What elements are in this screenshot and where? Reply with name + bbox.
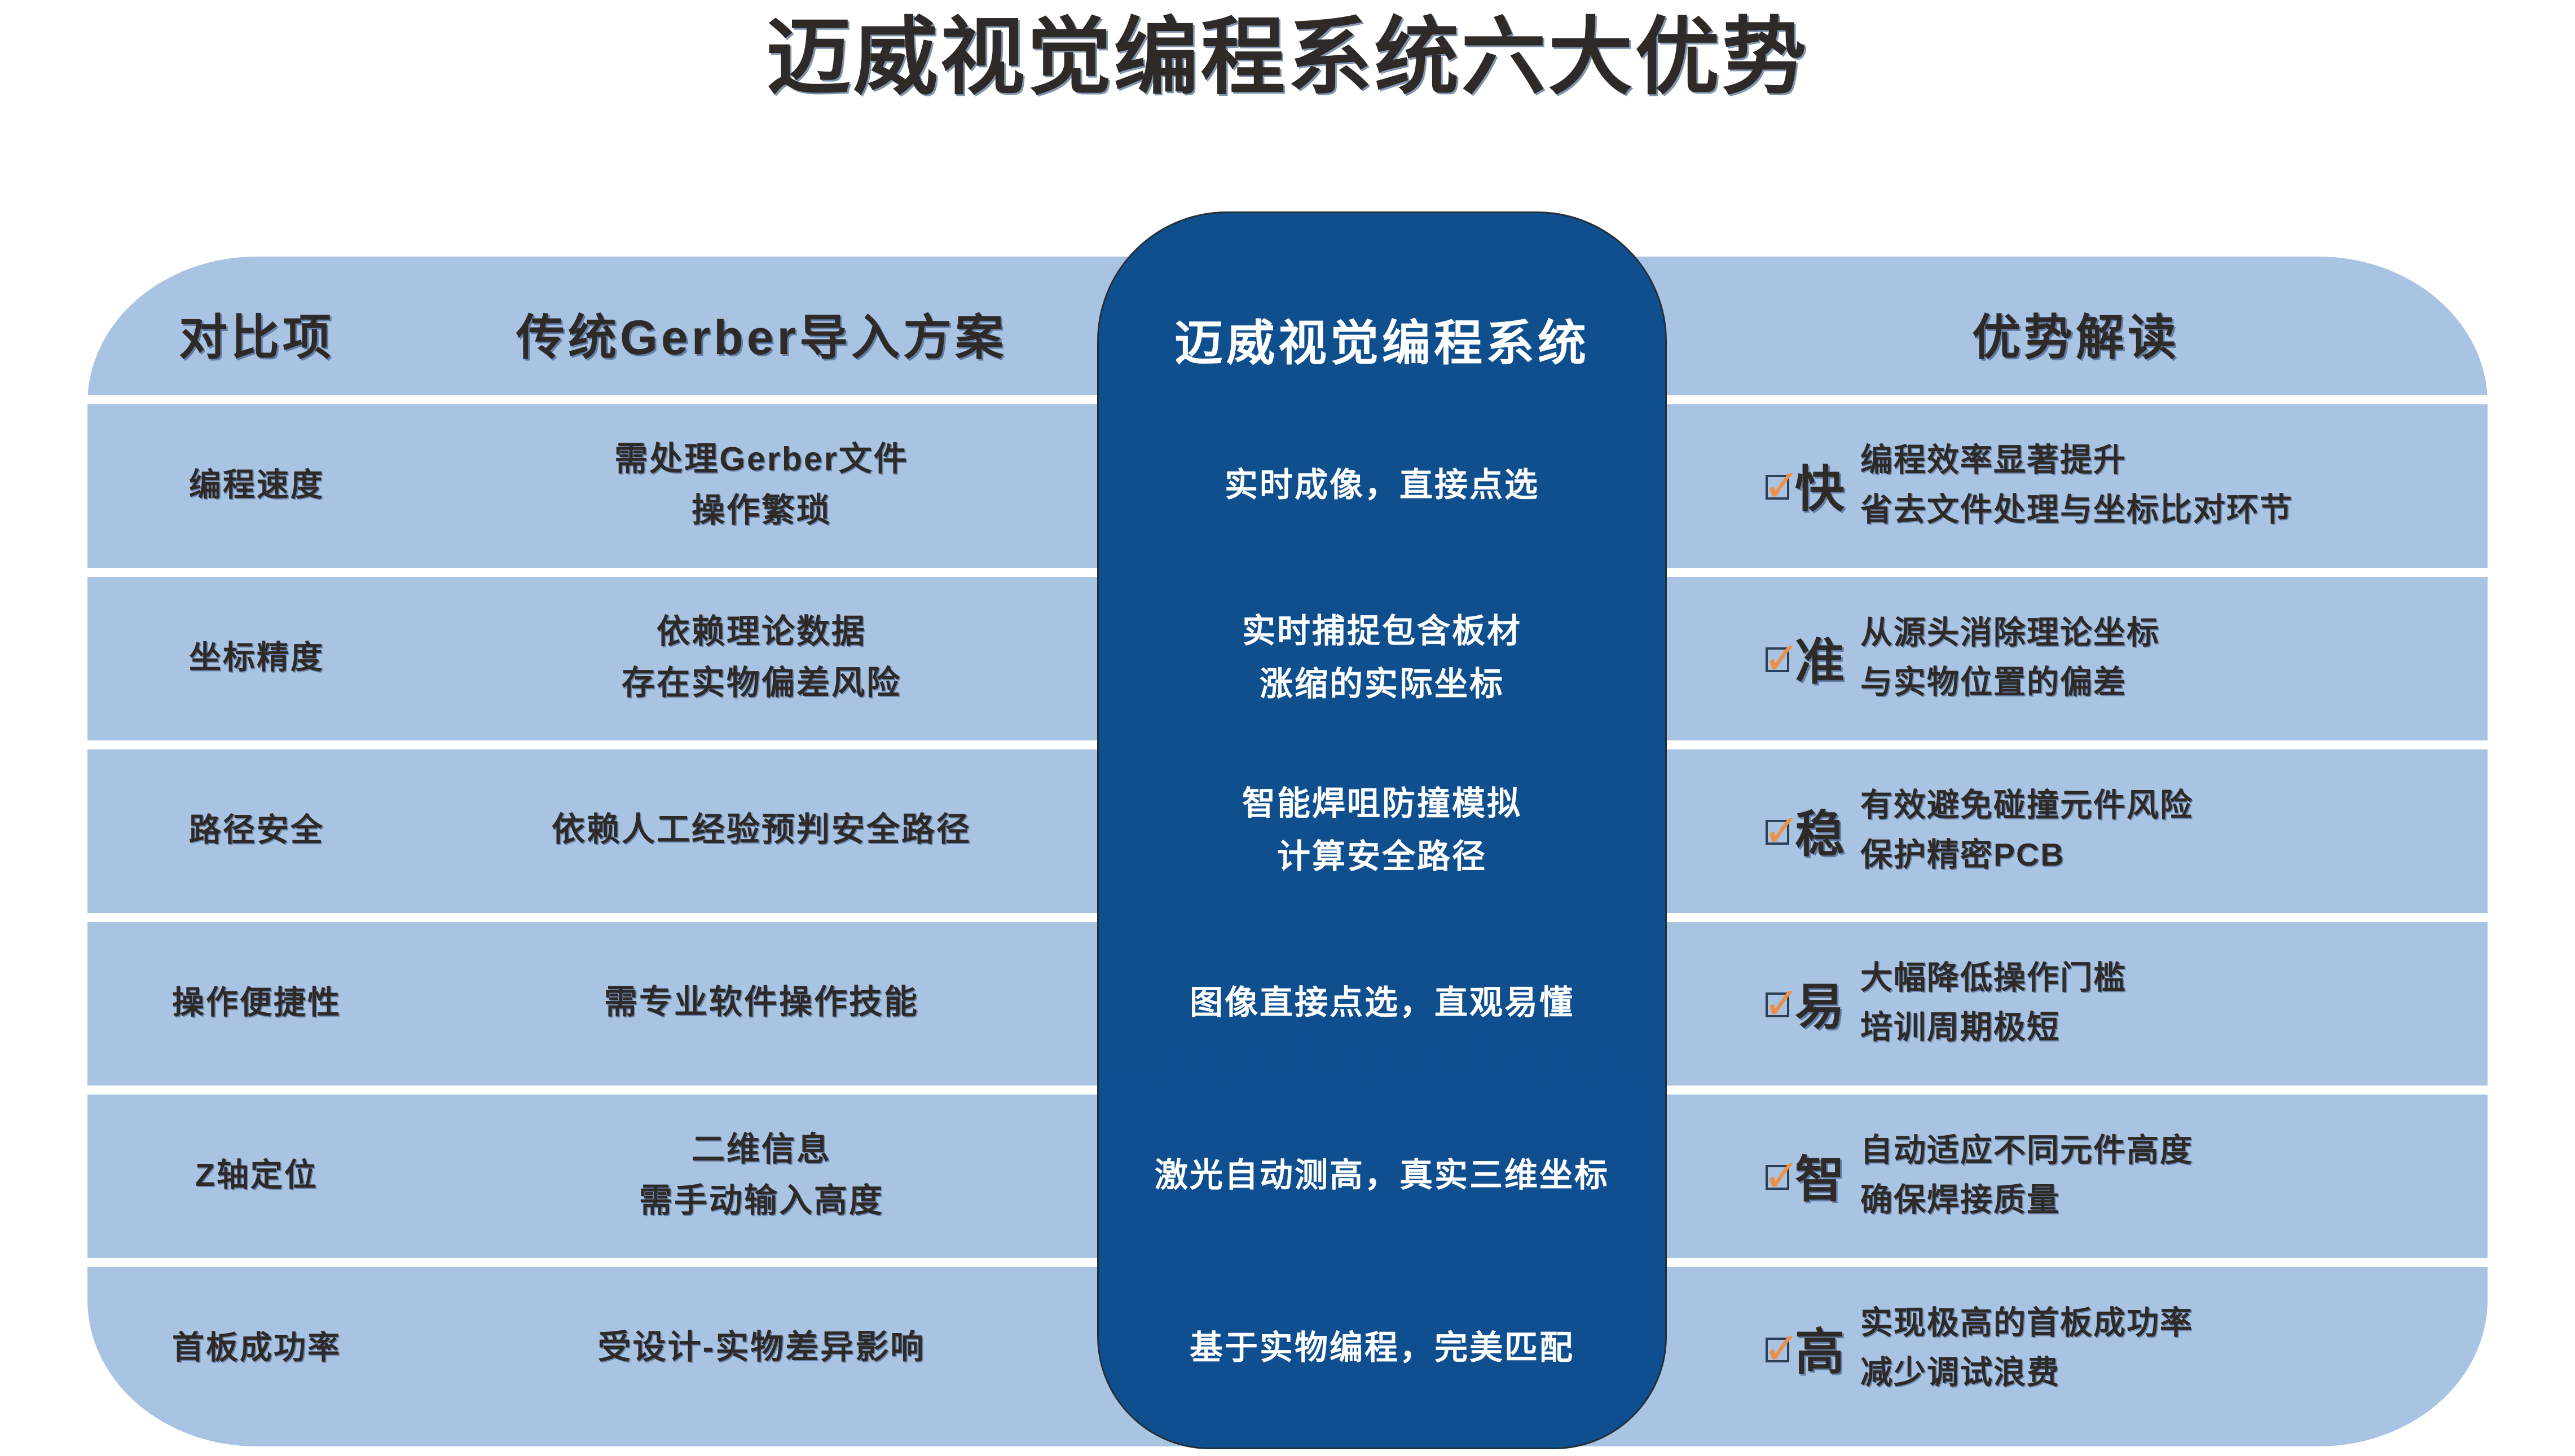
row-maiwei-line: 涨缩的实际坐标 [1106,658,1658,711]
row-traditional: 依赖理论数据 存在实物偏差风险 [429,579,1094,736]
benefit-badge: ✓ 准 [1766,622,1846,694]
row-maiwei: 实时成像，直接点选 [1106,406,1658,564]
benefit-description: 有效避免碰撞元件风险 保护精密PCB [1860,780,2193,880]
row-maiwei-line: 图像直接点选，直观易懂 [1106,976,1658,1029]
row-item: 坐标精度 [99,579,415,736]
row-maiwei: 图像直接点选，直观易懂 [1106,924,1658,1082]
row-traditional-line: 依赖人工经验预判安全路径 [429,804,1094,855]
row-traditional: 需处理Gerber文件 操作繁琐 [429,406,1094,564]
row-maiwei: 智能焊咀防撞模拟 计算安全路径 [1106,751,1658,909]
checked-checkbox-icon: ✓ [1766,1161,1792,1190]
row-benefit: ✓ 稳 有效避免碰撞元件风险 保护精密PCB [1766,751,2465,909]
benefit-line: 实现极高的首板成功率 [1860,1298,2193,1348]
row-maiwei: 基于实物编程，完美匹配 [1106,1269,1658,1427]
benefit-badge: ✓ 快 [1766,449,1846,521]
row-item-label: 路径安全 [99,805,415,855]
row-traditional-line: 依赖理论数据 [429,606,1094,658]
row-maiwei-line: 实时捕捉包含板材 [1106,605,1658,658]
row-benefit: ✓ 易 大幅降低操作门槛 培训周期极短 [1766,924,2465,1082]
benefit-badge: ✓ 高 [1766,1312,1846,1384]
benefit-keyword: 智 [1795,1140,1846,1211]
benefit-line: 培训周期极短 [1860,1003,2127,1052]
header-col-traditional: 传统Gerber导入方案 [429,276,1094,389]
row-traditional: 需专业软件操作技能 [429,924,1094,1082]
row-traditional-line: 二维信息 [429,1124,1094,1175]
row-benefit: ✓ 准 从源头消除理论坐标 与实物位置的偏差 [1766,579,2465,736]
header-col-benefit: 优势解读 [1726,276,2426,389]
row-traditional-line: 需处理Gerber文件 [429,434,1094,485]
benefit-keyword: 易 [1795,967,1846,1039]
row-item: 操作便捷性 [99,924,415,1082]
benefit-description: 大幅降低操作门槛 培训周期极短 [1860,953,2127,1053]
row-maiwei-line: 激光自动测高，真实三维坐标 [1103,1149,1661,1202]
row-maiwei-line: 实时成像，直接点选 [1106,458,1658,511]
row-item-label: 编程速度 [99,460,415,510]
benefit-line: 有效避免碰撞元件风险 [1860,780,2193,830]
row-traditional-line: 需专业软件操作技能 [429,977,1094,1028]
checked-checkbox-icon: ✓ [1766,815,1792,845]
benefit-line: 减少调试浪费 [1860,1348,2193,1397]
benefit-line: 大幅降低操作门槛 [1860,953,2127,1003]
benefit-line: 从源头消除理论坐标 [1860,608,2160,658]
benefit-badge: ✓ 稳 [1766,795,1846,866]
row-traditional-line: 受设计-实物差异影响 [429,1322,1094,1373]
header-col-benefit-label: 优势解读 [1726,298,2426,368]
row-item: 路径安全 [99,751,415,909]
benefit-keyword: 快 [1795,449,1846,521]
checked-checkbox-icon: ✓ [1766,643,1792,672]
benefit-line: 自动适应不同元件高度 [1860,1126,2193,1175]
row-traditional-line: 需手动输入高度 [429,1175,1094,1226]
row-item: 首板成功率 [99,1269,415,1427]
row-traditional: 受设计-实物差异影响 [429,1269,1094,1427]
row-traditional: 二维信息 需手动输入高度 [429,1096,1094,1254]
benefit-badge: ✓ 智 [1766,1140,1846,1211]
benefit-description: 编程效率显著提升 省去文件处理与坐标比对环节 [1860,435,2293,535]
row-benefit: ✓ 智 自动适应不同元件高度 确保焊接质量 [1766,1096,2465,1254]
row-item-label: 首板成功率 [99,1323,415,1373]
row-item-label: Z轴定位 [99,1150,415,1200]
checked-checkbox-icon: ✓ [1766,1333,1792,1362]
row-maiwei: 激光自动测高，真实三维坐标 [1103,1096,1661,1254]
header-col-item: 对比项 [99,276,415,389]
header-col-maiwei: 迈威视觉编程系统 [1106,282,1658,395]
row-maiwei: 实时捕捉包含板材 涨缩的实际坐标 [1106,579,1658,736]
header-col-traditional-label: 传统Gerber导入方案 [429,298,1094,368]
row-traditional: 依赖人工经验预判安全路径 [429,751,1094,909]
row-item: Z轴定位 [99,1096,415,1254]
row-item: 编程速度 [99,406,415,564]
row-maiwei-line: 计算安全路径 [1106,830,1658,883]
benefit-keyword: 准 [1795,622,1846,694]
page-title: 迈威视觉编程系统六大优势 [0,5,2575,111]
benefit-keyword: 高 [1795,1312,1846,1384]
row-benefit: ✓ 快 编程效率显著提升 省去文件处理与坐标比对环节 [1766,406,2465,564]
benefit-badge: ✓ 易 [1766,967,1846,1039]
header-col-item-label: 对比项 [99,298,415,368]
row-traditional-line: 存在实物偏差风险 [429,658,1094,709]
benefit-line: 与实物位置的偏差 [1860,658,2160,707]
row-maiwei-line: 基于实物编程，完美匹配 [1106,1321,1658,1374]
header-col-maiwei-label: 迈威视觉编程系统 [1106,303,1658,374]
row-item-label: 坐标精度 [99,633,415,682]
row-benefit: ✓ 高 实现极高的首板成功率 减少调试浪费 [1766,1269,2465,1427]
benefit-description: 自动适应不同元件高度 确保焊接质量 [1860,1126,2193,1225]
row-item-label: 操作便捷性 [99,978,415,1027]
row-maiwei-line: 智能焊咀防撞模拟 [1106,777,1658,830]
benefit-keyword: 稳 [1795,795,1846,866]
benefit-line: 编程效率显著提升 [1860,435,2293,485]
checked-checkbox-icon: ✓ [1766,988,1792,1017]
row-traditional-line: 操作繁琐 [429,485,1094,536]
benefit-line: 确保焊接质量 [1860,1175,2193,1225]
benefit-line: 省去文件处理与坐标比对环节 [1860,485,2293,535]
benefit-line: 保护精密PCB [1860,830,2193,880]
checked-checkbox-icon: ✓ [1766,470,1792,500]
benefit-description: 从源头消除理论坐标 与实物位置的偏差 [1860,608,2160,708]
benefit-description: 实现极高的首板成功率 减少调试浪费 [1860,1298,2193,1398]
